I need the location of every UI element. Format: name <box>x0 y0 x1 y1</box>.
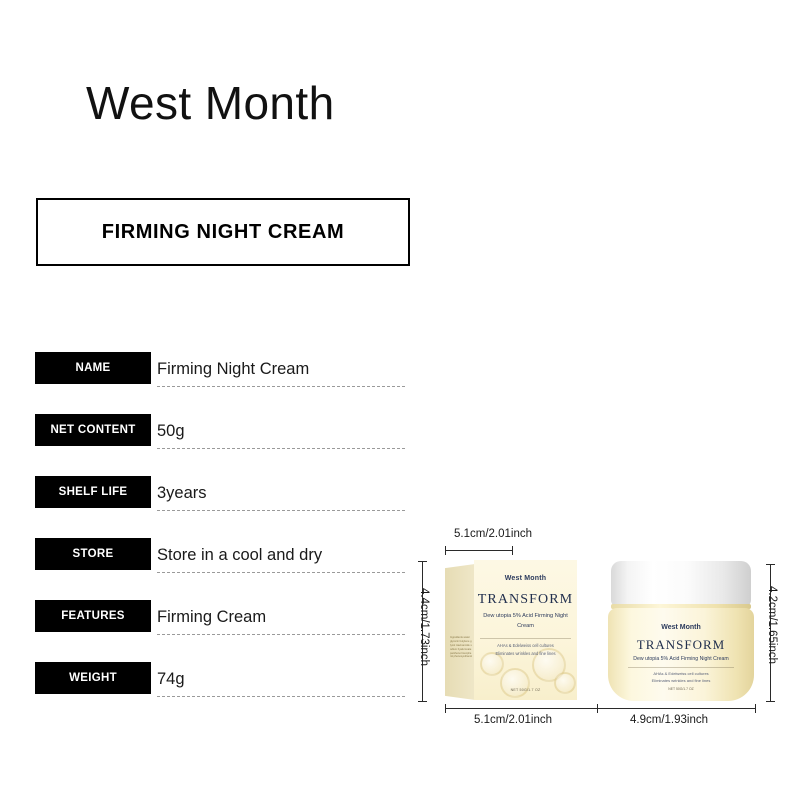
carton-subtext-line-2: Eliminates wrinkles and fine lines <box>480 650 571 658</box>
spec-label-text: NET CONTENT <box>50 424 135 436</box>
spec-value-field: Firming Night Cream <box>157 352 405 387</box>
carton-front-panel: West Month TRANSFORM Dew utopia 5% Acid … <box>474 560 577 700</box>
dim-label-carton-top-width: 5.1cm/2.01inch <box>454 528 532 540</box>
spec-value-text: 50g <box>157 422 185 441</box>
carton-subtext: AHAs & Edelweiss cell cultures Eliminate… <box>480 638 571 657</box>
dim-cap-carton-top-right <box>512 546 513 555</box>
carton-product-name: TRANSFORM <box>474 592 577 608</box>
spec-row-features: FEATURES Firming Cream <box>35 600 405 662</box>
dim-cap-bottom-middle <box>597 704 598 713</box>
jar-subtext-line-1: AHAs & Edelweiss cell cultures <box>628 670 734 677</box>
headline-box: FIRMING NIGHT CREAM <box>36 198 410 266</box>
jar-tagline: Dew utopia 5% Acid Firming Night Cream <box>616 656 746 662</box>
product-jar: West Month TRANSFORM Dew utopia 5% Acid … <box>608 561 754 701</box>
carton-subtext-line-1: AHAs & Edelweiss cell cultures <box>480 642 571 650</box>
dim-cap-jar-height-top <box>766 564 775 565</box>
floral-deco-icon <box>500 668 530 698</box>
dim-cap-carton-height-top <box>418 561 427 562</box>
dim-line-carton-top <box>445 550 512 551</box>
dim-label-carton-height: 4.4cm/1.73inch <box>418 588 430 666</box>
product-figure: 5.1cm/2.01inch 4.4cm/1.73inch 4.2cm/1.65… <box>412 528 790 736</box>
dim-cap-jar-height-bottom <box>766 701 775 702</box>
spec-row-net-content: NET CONTENT 50g <box>35 414 405 476</box>
jar-product-name: TRANSFORM <box>608 637 754 653</box>
dim-label-carton-bottom-width: 5.1cm/2.01inch <box>474 714 552 726</box>
dim-cap-carton-height-bottom <box>418 701 427 702</box>
spec-row-shelf-life: SHELF LIFE 3years <box>35 476 405 538</box>
dim-cap-carton-top-left <box>445 546 446 555</box>
spec-row-store: STORE Store in a cool and dry <box>35 538 405 600</box>
dim-label-jar-height: 4.2cm/1.65inch <box>766 586 778 664</box>
carton-tagline: Dew utopia 5% Acid Firming Night Cream <box>480 612 571 632</box>
spec-value-field: 50g <box>157 414 405 449</box>
jar-subtext-line-2: Eliminates wrinkles and fine lines <box>628 677 734 684</box>
spec-label-text: WEIGHT <box>69 672 117 684</box>
spec-label-chip: WEIGHT <box>35 662 151 694</box>
spec-value-text: 3years <box>157 484 207 503</box>
spec-label-text: SHELF LIFE <box>59 486 128 498</box>
product-spec-sheet: West Month FIRMING NIGHT CREAM NAME Firm… <box>0 0 800 800</box>
carton-brand-text: West Month <box>474 575 577 582</box>
dim-line-bottom <box>445 708 755 709</box>
spec-value-text: Firming Night Cream <box>157 360 309 379</box>
carton-side-panel: Ingredients water glycerin butylene glyc… <box>445 564 475 700</box>
product-carton: Ingredients water glycerin butylene glyc… <box>445 560 577 700</box>
spec-value-text: Firming Cream <box>157 608 266 627</box>
brand-title: West Month <box>86 78 335 129</box>
spec-value-text: Store in a cool and dry <box>157 546 322 565</box>
jar-net-weight: NET 50G/1.7 OZ <box>608 687 754 691</box>
spec-row-name: NAME Firming Night Cream <box>35 352 405 414</box>
spec-value-field: 74g <box>157 662 405 697</box>
jar-subtext: AHAs & Edelweiss cell cultures Eliminate… <box>628 667 734 684</box>
spec-value-text: 74g <box>157 670 185 689</box>
spec-table: NAME Firming Night Cream NET CONTENT 50g… <box>35 352 405 724</box>
headline-text: FIRMING NIGHT CREAM <box>102 221 345 244</box>
carton-net-weight: NET 50G/1.7 OZ <box>474 688 577 692</box>
jar-lid <box>611 561 751 607</box>
spec-value-field: Firming Cream <box>157 600 405 635</box>
spec-row-weight: WEIGHT 74g <box>35 662 405 724</box>
dim-label-jar-width: 4.9cm/1.93inch <box>630 714 708 726</box>
carton-side-text: Ingredients water glycerin butylene glyc… <box>450 636 472 680</box>
spec-value-field: 3years <box>157 476 405 511</box>
spec-label-text: FEATURES <box>61 610 125 622</box>
spec-label-text: STORE <box>73 548 114 560</box>
spec-label-chip: FEATURES <box>35 600 151 632</box>
dim-cap-bottom-right <box>755 704 756 713</box>
spec-label-text: NAME <box>75 362 110 374</box>
spec-value-field: Store in a cool and dry <box>157 538 405 573</box>
spec-label-chip: STORE <box>35 538 151 570</box>
spec-label-chip: NAME <box>35 352 151 384</box>
spec-label-chip: NET CONTENT <box>35 414 151 446</box>
dim-cap-bottom-left <box>445 704 446 713</box>
jar-brand-text: West Month <box>608 624 754 631</box>
spec-label-chip: SHELF LIFE <box>35 476 151 508</box>
